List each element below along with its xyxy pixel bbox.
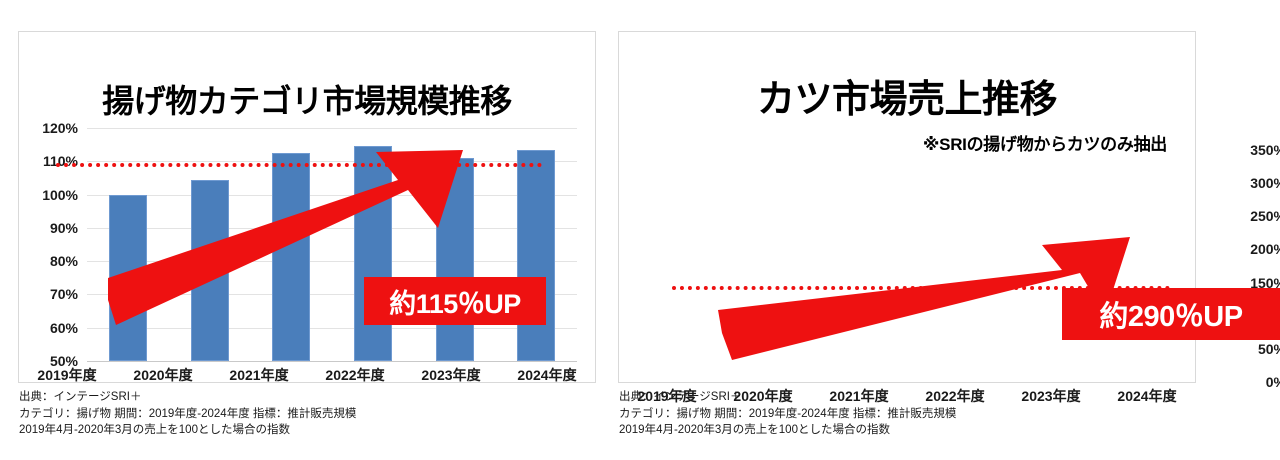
chart-subtitle-right: ※SRIの揚げ物からカツのみ抽出 <box>923 130 1167 155</box>
x-axis-tick-label: 2022年度 <box>307 365 403 385</box>
y-axis-tick-label: 300% <box>1250 175 1280 191</box>
footnote-line-3: 2019年4月-2020年3月の売上を100とした場合の指数 <box>619 422 956 439</box>
y-axis-tick-label: 100% <box>42 187 78 203</box>
gridline <box>87 361 577 362</box>
screenshot-root: 揚げ物カテゴリ市場規模推移 50%60%70%80%90%100%110%120… <box>0 0 1280 460</box>
bar <box>272 153 310 361</box>
callout-badge-right: 約290％UP <box>1062 288 1280 340</box>
footnote-left: 出典：インテージSRI＋ カテゴリ：揚げ物 期間：2019年度-2024年度 指… <box>19 389 356 439</box>
footnote-line-2: カテゴリ：揚げ物 期間：2019年度-2024年度 指標：推計販売規模 <box>619 406 956 423</box>
x-axis-tick-label: 2021年度 <box>211 365 307 385</box>
y-axis-tick-label: 80% <box>50 253 78 269</box>
x-axis-tick-label: 2024年度 <box>1099 386 1195 406</box>
y-axis-tick-label: 50% <box>1258 341 1280 357</box>
chart-title-right: カツ市場売上推移 <box>619 68 1195 123</box>
bar <box>191 180 229 361</box>
y-axis-tick-label: 90% <box>50 220 78 236</box>
y-axis-tick-label: 60% <box>50 320 78 336</box>
x-axis-tick-label: 2024年度 <box>499 365 595 385</box>
x-axis-tick-label: 2023年度 <box>1003 386 1099 406</box>
x-axis-tick-label: 2023年度 <box>403 365 499 385</box>
callout-badge-left: 約115％UP <box>364 277 546 325</box>
chart-panel-left: 揚げ物カテゴリ市場規模推移 50%60%70%80%90%100%110%120… <box>18 31 596 383</box>
y-axis-tick-label: 70% <box>50 286 78 302</box>
footnote-line-1: 出典：インテージSRI＋ <box>619 389 956 406</box>
bar <box>109 195 147 361</box>
y-axis-tick-label: 0% <box>1266 374 1280 390</box>
footnote-line-1: 出典：インテージSRI＋ <box>19 389 356 406</box>
footnote-line-3: 2019年4月-2020年3月の売上を100とした場合の指数 <box>19 422 356 439</box>
x-axis-labels-left: 2019年度2020年度2021年度2022年度2023年度2024年度 <box>19 365 595 385</box>
bar <box>436 158 474 361</box>
footnote-right: 出典：インテージSRI＋ カテゴリ：揚げ物 期間：2019年度-2024年度 指… <box>619 389 956 439</box>
y-axis-tick-label: 120% <box>42 120 78 136</box>
y-axis-tick-label: 350% <box>1250 142 1280 158</box>
y-axis-tick-label: 250% <box>1250 208 1280 224</box>
chart-title-left: 揚げ物カテゴリ市場規模推移 <box>19 76 595 122</box>
footnote-line-2: カテゴリ：揚げ物 期間：2019年度-2024年度 指標：推計販売規模 <box>19 406 356 423</box>
bar <box>517 150 555 361</box>
y-axis-tick-label: 200% <box>1250 241 1280 257</box>
reference-line-100-left <box>56 163 542 167</box>
x-axis-tick-label: 2020年度 <box>115 365 211 385</box>
bar <box>354 146 392 361</box>
x-axis-tick-label: 2019年度 <box>19 365 115 385</box>
